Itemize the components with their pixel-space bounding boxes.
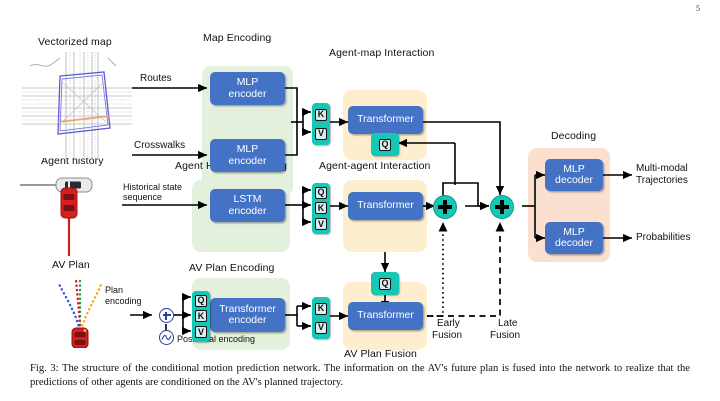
section-title-agent-map-interaction: Agent-map Interaction bbox=[329, 47, 434, 59]
qkv-cell-v: V bbox=[315, 322, 327, 334]
qkv-stack-map-kv[interactable]: K V bbox=[312, 103, 330, 145]
av-plan-thumbnail bbox=[40, 272, 120, 348]
qkv-cell-q: Q bbox=[379, 139, 391, 151]
qkv-query-agent-map[interactable]: Q bbox=[371, 133, 399, 156]
edge-label-late-fusion-line1: Late bbox=[498, 318, 517, 329]
figure-caption: Fig. 3: The structure of the conditional… bbox=[30, 362, 690, 390]
section-title-av-plan-encoding: AV Plan Encoding bbox=[189, 262, 274, 274]
agent-red-car-thumbnail bbox=[56, 186, 82, 258]
edge-label-plan-encoding-line1: Plan bbox=[105, 285, 123, 296]
qkv-cell-q: Q bbox=[195, 295, 207, 307]
edge-label-early-fusion-line1: Early bbox=[437, 318, 460, 329]
block-transformer-agent-map[interactable]: Transformer bbox=[348, 106, 423, 134]
block-label-line1: LSTM bbox=[229, 194, 267, 206]
input-label-av-plan: AV Plan bbox=[52, 259, 90, 271]
vectorized-map-thumbnail bbox=[22, 52, 132, 158]
block-lstm-encoder[interactable]: LSTM encoder bbox=[210, 189, 285, 222]
qkv-cell-v: V bbox=[195, 326, 207, 338]
block-mlp-encoder-crosswalks[interactable]: MLP encoder bbox=[210, 139, 285, 172]
block-transformer-av-plan-fusion[interactable]: Transformer bbox=[348, 302, 423, 330]
block-label-line1: Transformer bbox=[357, 310, 414, 322]
section-title-decoding: Decoding bbox=[551, 130, 596, 142]
block-label-line2: encoder bbox=[229, 89, 267, 101]
block-mlp-decoder-trajectories[interactable]: MLP decoder bbox=[545, 159, 603, 191]
edge-label-crosswalks: Crosswalks bbox=[134, 140, 185, 151]
output-label-probabilities: Probabilities bbox=[636, 232, 690, 243]
early-fusion-node[interactable] bbox=[433, 195, 457, 219]
qkv-cell-k: K bbox=[315, 109, 327, 121]
block-label-line2: encoder bbox=[219, 315, 276, 327]
qkv-cell-v: V bbox=[315, 218, 327, 230]
block-transformer-encoder-av-plan[interactable]: Transformer encoder bbox=[210, 298, 285, 332]
late-fusion-node[interactable] bbox=[490, 195, 514, 219]
block-label-line1: MLP bbox=[229, 144, 267, 156]
qkv-stack-agent-qkv[interactable]: Q K V bbox=[312, 183, 330, 234]
edge-label-late-fusion-line2: Fusion bbox=[490, 330, 520, 341]
qkv-cell-k: K bbox=[195, 310, 207, 322]
block-label-line1: Transformer bbox=[357, 114, 414, 126]
edge-label-historical-state-line1: Historical state bbox=[123, 182, 182, 193]
figure-page: 5 bbox=[0, 0, 720, 401]
section-title-av-plan-fusion: AV Plan Fusion bbox=[344, 348, 417, 360]
block-mlp-decoder-probabilities[interactable]: MLP decoder bbox=[545, 222, 603, 254]
qkv-stack-plan-kv[interactable]: K V bbox=[312, 297, 330, 339]
edge-label-positional-encoding: Positional encoding bbox=[177, 334, 255, 345]
qkv-query-av-plan-fusion[interactable]: Q bbox=[371, 272, 399, 295]
plan-encoding-sum-node bbox=[159, 308, 174, 323]
section-title-agent-agent-interaction: Agent-agent Interaction bbox=[319, 160, 430, 172]
section-title-map-encoding: Map Encoding bbox=[203, 32, 271, 44]
qkv-cell-q: Q bbox=[315, 187, 327, 199]
qkv-cell-q: Q bbox=[379, 278, 391, 290]
qkv-cell-k: K bbox=[315, 303, 327, 315]
block-mlp-encoder-routes[interactable]: MLP encoder bbox=[210, 72, 285, 105]
edge-label-early-fusion-line2: Fusion bbox=[432, 330, 462, 341]
block-label-line2: encoder bbox=[229, 206, 267, 218]
edge-label-routes: Routes bbox=[140, 73, 172, 84]
qkv-cell-v: V bbox=[315, 128, 327, 140]
output-label-multi-modal-line2: Trajectories bbox=[636, 175, 688, 186]
edge-label-plan-encoding-line2: encoding bbox=[105, 296, 142, 307]
block-label-line2: decoder bbox=[555, 238, 593, 250]
qkv-stack-plan-input-qkv[interactable]: Q K V bbox=[192, 291, 210, 342]
input-label-vectorized-map: Vectorized map bbox=[38, 36, 112, 48]
edge-label-historical-state-line2: sequence bbox=[123, 192, 162, 203]
block-transformer-agent-agent[interactable]: Transformer bbox=[348, 192, 423, 220]
output-label-multi-modal-line1: Multi-modal bbox=[636, 163, 688, 174]
block-label-line2: encoder bbox=[229, 156, 267, 168]
block-label-line2: decoder bbox=[555, 175, 593, 187]
block-label-line1: Transformer bbox=[357, 200, 414, 212]
qkv-cell-k: K bbox=[315, 202, 327, 214]
block-label-line1: MLP bbox=[229, 77, 267, 89]
positional-encoding-icon bbox=[159, 330, 174, 345]
